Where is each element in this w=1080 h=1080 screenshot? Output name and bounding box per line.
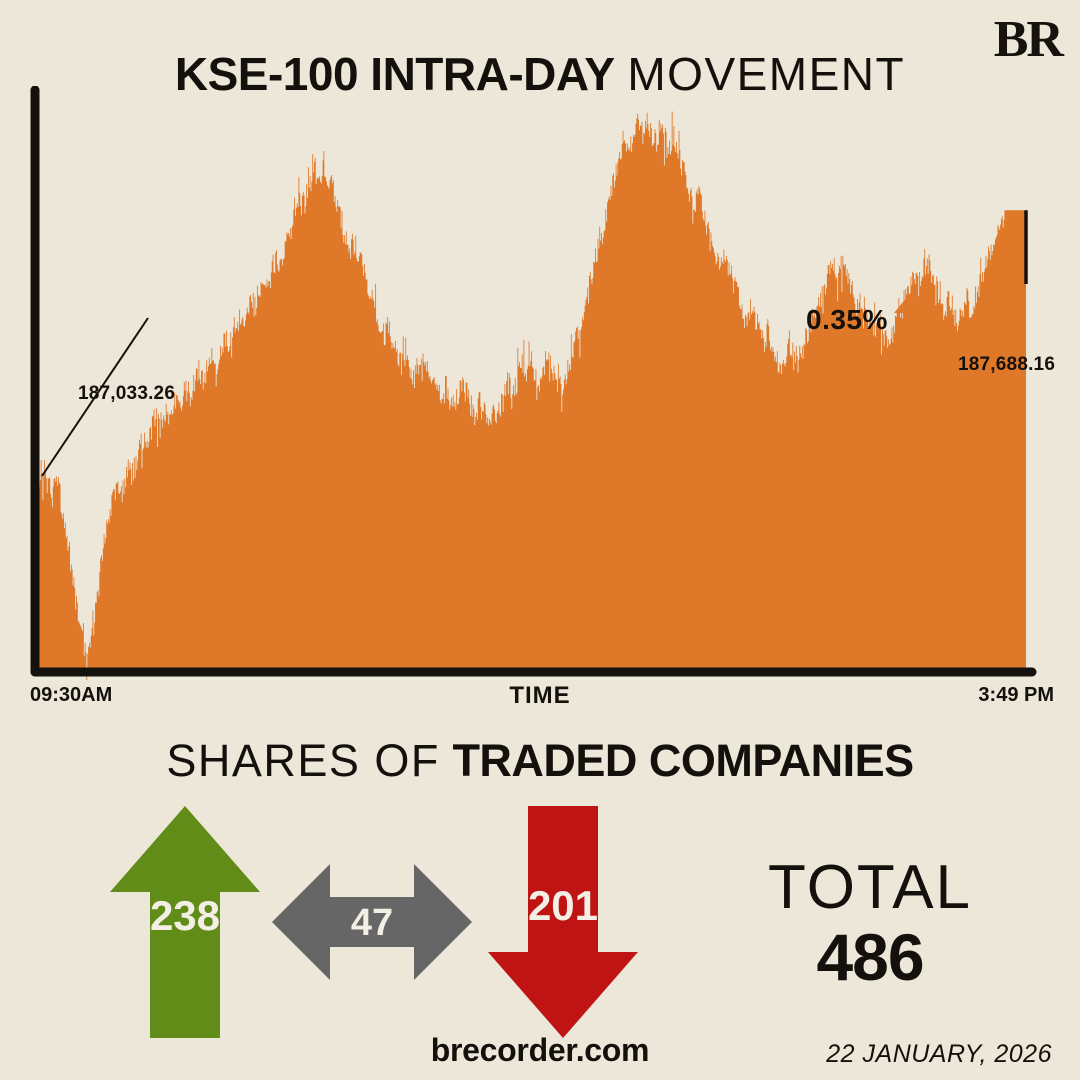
x-axis-labels: 09:30AM TIME 3:49 PM (0, 684, 1080, 720)
unchanged-count: 47 (272, 902, 472, 945)
index-area-series (39, 111, 1026, 680)
total-label: TOTAL (700, 854, 1040, 922)
x-axis-title: TIME (0, 682, 1080, 710)
change-percent-label: 0.35% (806, 304, 888, 336)
change-indicator: 0.35% (806, 291, 930, 349)
arrow-up-icon (894, 291, 930, 349)
intraday-chart: 187,033.26 187,688.16 0.35% (0, 86, 1080, 686)
total-stat: TOTAL 486 (700, 854, 1040, 992)
advanced-count: 238 (110, 892, 260, 940)
publish-date: 22 JANUARY, 2026 (826, 1040, 1052, 1069)
total-count: 486 (700, 922, 1040, 992)
infographic-root: BR KSE-100 INTRA-DAY MOVEMENT 187,033.26… (0, 0, 1080, 1080)
open-value-label: 187,033.26 (78, 383, 175, 405)
advanced-stat: 238 (110, 806, 260, 1038)
declined-count: 201 (488, 882, 638, 930)
x-axis-end-label: 3:49 PM (978, 684, 1054, 707)
unchanged-stat: 47 (272, 864, 472, 980)
shares-breakdown: 238 47 201 (96, 806, 656, 1038)
shares-title-light: SHARES OF (166, 735, 440, 786)
declined-stat: 201 (488, 806, 638, 1038)
close-value-label: 187,688.16 (958, 354, 1055, 376)
shares-section-title: SHARES OF TRADED COMPANIES (0, 734, 1080, 788)
shares-title-bold: TRADED COMPANIES (452, 735, 913, 786)
